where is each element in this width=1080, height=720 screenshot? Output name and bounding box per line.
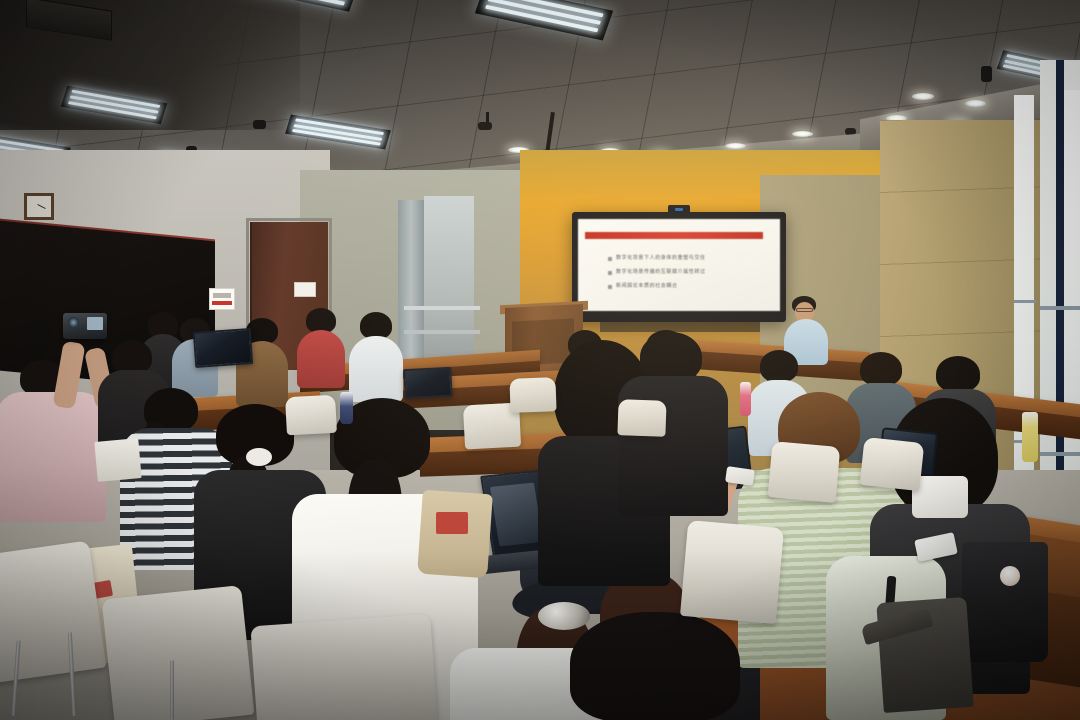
- ceiling-sensor-icon: [253, 120, 266, 129]
- glasses-icon: [796, 308, 813, 312]
- ceiling-speaker-icon: [478, 122, 492, 130]
- compact-camera[interactable]: [63, 313, 107, 339]
- list-item: 数字化场景传播的互联媒介属性转过: [608, 269, 758, 276]
- chair[interactable]: [102, 585, 255, 720]
- downlight-icon: [912, 93, 934, 100]
- hair: [860, 352, 902, 386]
- camera-lens-icon: [68, 317, 79, 328]
- hair-scrunchie: [246, 448, 272, 466]
- slide-bullet-text: 数字化背景下人的身体的重塑与交往: [616, 255, 706, 262]
- chair[interactable]: [768, 441, 841, 503]
- window-rail: [404, 330, 480, 334]
- hair: [112, 340, 152, 374]
- tote-bag[interactable]: [417, 490, 493, 579]
- tissue-pack[interactable]: [912, 476, 968, 518]
- list-item: 新闻舆论本质的社会耦合: [608, 283, 758, 290]
- torso: [349, 336, 403, 402]
- chair-leg: [170, 660, 174, 720]
- bullet-icon: [608, 257, 612, 261]
- chair[interactable]: [509, 377, 556, 413]
- hair: [936, 356, 980, 392]
- chair[interactable]: [250, 614, 437, 720]
- exterior-window: [1040, 60, 1080, 530]
- laptop[interactable]: [193, 328, 253, 368]
- chair[interactable]: [285, 395, 337, 436]
- torso: [618, 376, 728, 516]
- water-bottle[interactable]: [1022, 412, 1038, 462]
- window-column: [398, 200, 424, 370]
- laptop[interactable]: [403, 367, 453, 399]
- camera-screen: [87, 317, 103, 330]
- hair-scrunchie: [538, 602, 590, 630]
- wall-clock: [24, 193, 54, 220]
- bag-logo: [436, 512, 468, 534]
- notebook[interactable]: [94, 438, 141, 482]
- chair[interactable]: [680, 520, 784, 624]
- torso: [297, 330, 345, 388]
- hair: [360, 312, 392, 339]
- window-mullion: [1014, 300, 1036, 303]
- display-shadow: [600, 322, 760, 332]
- window-rail: [404, 306, 480, 310]
- bag-charm: [1000, 566, 1020, 586]
- downlight-icon: [792, 131, 813, 137]
- window-frame-dark: [1056, 60, 1064, 530]
- slide-bullet-text: 数字化场景传播的互联媒介属性转过: [616, 269, 706, 276]
- window-mullion: [1040, 452, 1080, 456]
- downlight-icon: [725, 143, 746, 149]
- slide-content: 数字化背景下人的身体的重塑与交往 数字化场景传播的互联媒介属性转过 新闻舆论本质…: [578, 219, 780, 311]
- classroom-photo-scene: 数字化背景下人的身体的重塑与交往 数字化场景传播的互联媒介属性转过 新闻舆论本质…: [0, 0, 1080, 720]
- door-notice-sign: [294, 282, 316, 297]
- hair: [570, 612, 740, 720]
- handbag[interactable]: [962, 542, 1048, 662]
- slide-accent-bar: [585, 232, 763, 239]
- ceiling-sensor-icon: [981, 66, 992, 82]
- bullet-icon: [608, 271, 612, 275]
- bullet-icon: [608, 285, 612, 289]
- chair[interactable]: [617, 399, 666, 437]
- slide-bullet-list: 数字化背景下人的身体的重塑与交往 数字化场景传播的互联媒介属性转过 新闻舆论本质…: [608, 255, 758, 297]
- slide-bullet-text: 新闻舆论本质的社会耦合: [616, 283, 678, 290]
- water-bottle[interactable]: [340, 392, 353, 424]
- water-bottle[interactable]: [740, 382, 751, 416]
- laptop-screen-content: [490, 483, 543, 547]
- list-item: 数字化背景下人的身体的重塑与交往: [608, 255, 758, 262]
- downlight-icon: [965, 100, 986, 107]
- hair: [640, 332, 702, 382]
- chair[interactable]: [860, 437, 925, 491]
- wall-notice-sign: [209, 288, 235, 310]
- torso: [0, 392, 106, 522]
- window-mullion: [1040, 306, 1080, 310]
- window-pane: [1064, 90, 1080, 510]
